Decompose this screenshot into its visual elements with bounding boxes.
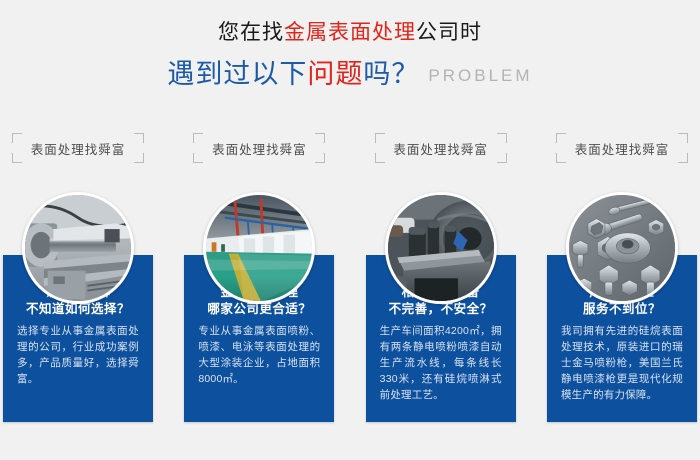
- bracket-corner-icon: [556, 153, 566, 163]
- headline-secondary: 遇到过以下问题吗？PROBLEM: [0, 57, 700, 93]
- bracket-corner-icon: [12, 133, 22, 143]
- bracket-corner-icon: [193, 153, 203, 163]
- lathe-machine-photo: [22, 192, 134, 304]
- problem-card[interactable]: 表面处理找舜富 金属表面处理 哪家公司更合适？ 专业从事金属表面喷粉、喷漆、电泳…: [184, 134, 334, 424]
- bracket-corner-icon: [375, 133, 385, 143]
- card-tag: 表面处理找舜富: [373, 134, 509, 162]
- bracket-corner-icon: [193, 133, 203, 143]
- card-body-text: 专业从事金属表面喷粉、喷漆、电泳等表面处理的大型涂装企业，占地面积8000㎡。: [198, 323, 320, 387]
- bracket-corner-icon: [497, 133, 507, 143]
- headline-primary: 您在找金属表面处理公司时: [0, 18, 700, 48]
- problem-card-list: 表面处理找舜富 设备不了解 不知道如何选择？ 选择专业从事金属表面处理的公司，行…: [3, 134, 697, 434]
- bracket-corner-icon: [375, 153, 385, 163]
- bracket-corner-icon: [556, 133, 566, 143]
- bracket-corner-icon: [12, 153, 22, 163]
- factory-workshop-photo: [203, 192, 315, 304]
- headline-secondary-suffix: 吗？: [363, 59, 419, 89]
- card-body-text: 我司拥有先进的硅烷表面处理技术，原装进口的瑞士金马喷粉枪，美国兰氏静电喷漆枪更是…: [561, 323, 683, 403]
- bracket-corner-icon: [134, 133, 144, 143]
- card-tag: 表面处理找舜富: [10, 134, 146, 162]
- card-tag-label: 表面处理找舜富: [393, 139, 488, 158]
- machine-tooling-illustration: [388, 195, 494, 301]
- card-tag: 表面处理找舜富: [191, 134, 327, 162]
- problem-card[interactable]: 表面处理找舜富 产品质量差 服务不到位？ 我司拥有先进的硅烷表面处理技术，原装进…: [547, 134, 697, 424]
- headline-english-label: PROBLEM: [428, 66, 532, 85]
- headline-secondary-highlight: 问题: [307, 59, 363, 89]
- fasteners-bolts-illustration: [569, 195, 675, 301]
- headline-secondary-prefix: 遇到过以下: [167, 59, 307, 89]
- bracket-corner-icon: [678, 133, 688, 143]
- fasteners-bolts-photo: [566, 192, 678, 304]
- card-tag-label: 表面处理找舜富: [575, 139, 670, 158]
- bracket-corner-icon: [497, 153, 507, 163]
- bracket-corner-icon: [678, 153, 688, 163]
- problem-card[interactable]: 表面处理找舜富 相关特种设备 不完善，不安全？ 生产车间面积4200㎡，拥有两条…: [366, 134, 516, 424]
- lathe-machine-illustration: [25, 195, 131, 301]
- problem-section: 您在找金属表面处理公司时 遇到过以下问题吗？PROBLEM 表面处理找舜富 设备…: [0, 0, 700, 460]
- card-body-text: 生产车间面积4200㎡，拥有两条静电喷粉喷漆自动生产流水线，每条线长330米，还…: [380, 323, 502, 403]
- factory-workshop-illustration: [206, 195, 312, 301]
- headline-primary-highlight: 金属表面处理: [284, 21, 416, 44]
- card-body-text: 选择专业从事金属表面处理的公司，行业成功案例多，产品质量好，选择舜富。: [17, 323, 139, 387]
- bracket-corner-icon: [315, 153, 325, 163]
- machine-tooling-photo: [385, 192, 497, 304]
- section-heading: 您在找金属表面处理公司时 遇到过以下问题吗？PROBLEM: [0, 18, 700, 93]
- card-tag-label: 表面处理找舜富: [31, 139, 126, 158]
- headline-primary-suffix: 公司时: [416, 21, 482, 44]
- headline-primary-prefix: 您在找: [218, 21, 284, 44]
- problem-card[interactable]: 表面处理找舜富 设备不了解 不知道如何选择？ 选择专业从事金属表面处理的公司，行…: [3, 134, 153, 424]
- card-tag: 表面处理找舜富: [554, 134, 690, 162]
- card-tag-label: 表面处理找舜富: [212, 139, 307, 158]
- bracket-corner-icon: [315, 133, 325, 143]
- bracket-corner-icon: [134, 153, 144, 163]
